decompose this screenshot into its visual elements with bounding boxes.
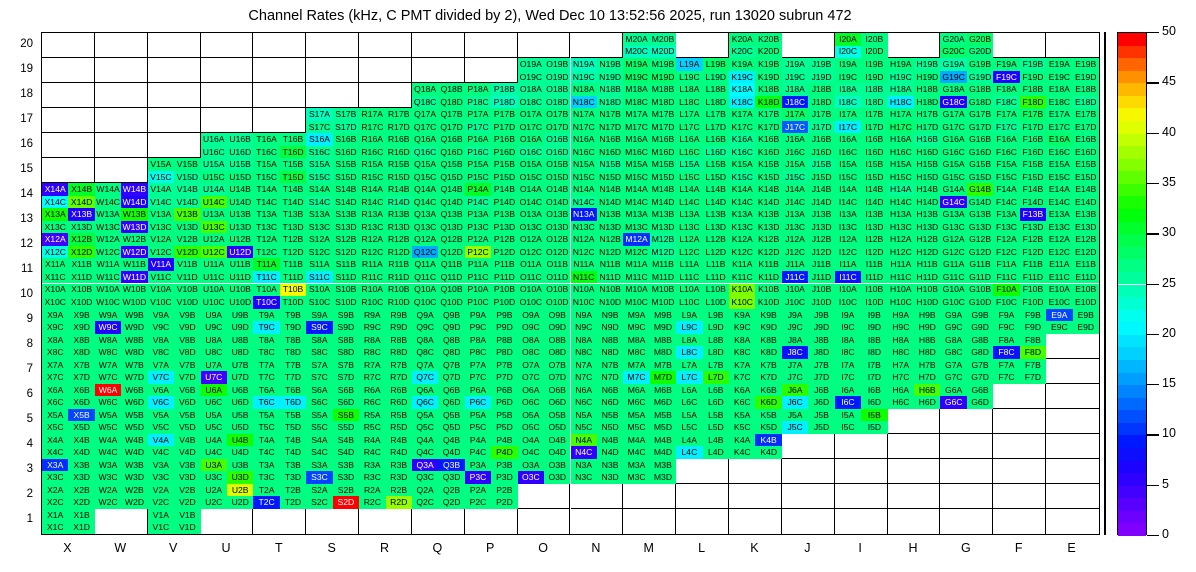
channel-subcell: P7D [491,371,517,384]
channel-subcell: X3B [68,459,94,472]
channel-subcell: M18B [650,83,676,96]
channel-subcell: R10B [386,284,412,297]
heatmap-cell [253,33,306,58]
heatmap-cell: H19AH19BH19CH19D [888,58,941,83]
channel-subcell: U5B [227,409,253,422]
channel-subcell: I9A [835,309,861,322]
channel-subcell: S11C [306,271,332,284]
channel-subcell: L13A [676,208,702,221]
channel-subcell: Q16B [438,133,464,146]
channel-subcell: M6C [623,396,649,409]
channel-subcell: K6D [755,396,781,409]
channel-subcell: I20D [861,46,887,59]
heatmap-cell: F11AF11BF11CF11D [993,258,1046,283]
channel-subcell: L10D [703,296,729,309]
channel-subcell: T12D [280,246,306,259]
channel-subcell: Q16A [412,133,438,146]
channel-subcell: J8D [808,346,834,359]
heatmap-cell: V1AV1BV1CV1D [148,509,201,534]
colorbar-band [1118,335,1146,348]
channel-subcell: M3C [623,471,649,484]
heatmap-cell: H16AH16BH16CH16D [888,133,941,158]
channel-subcell: H14A [888,183,914,196]
x-axis-label: P [464,541,517,555]
channel-subcell: U16C [201,146,227,159]
heatmap-cell [95,83,148,108]
colorbar-band [1118,486,1146,499]
heatmap-cell: N9AN9BN9CN9D [571,309,624,334]
channel-subcell: V3B [174,459,200,472]
heatmap-cell [676,33,729,58]
heatmap-cell: L13AL13BL13CL13D [676,208,729,233]
heatmap-cell: X14AX14BX14CX14D [42,183,95,208]
channel-subcell: M10D [650,296,676,309]
channel-subcell: V9D [174,321,200,334]
heatmap-cell: F12AF12BF12CF12D [993,233,1046,258]
heatmap-cell: Q13AQ13BQ13CQ13D [412,208,465,233]
channel-subcell: U5C [201,421,227,434]
channel-subcell: S13B [333,208,359,221]
channel-subcell: H18B [914,83,940,96]
channel-subcell: Q5C [412,421,438,434]
x-axis-label: M [622,541,675,555]
channel-subcell: G11D [967,271,993,284]
channel-subcell: I5D [861,421,887,434]
channel-subcell: J18B [808,83,834,96]
heatmap-cell: I6AI6BI6CI6D [835,384,888,409]
channel-subcell: H8A [888,334,914,347]
heatmap-grid: M20AM20BM20CM20DK20AK20BK20CK20DI20AI20B… [42,33,1099,534]
channel-subcell: L6C [676,396,702,409]
channel-subcell: P11D [491,271,517,284]
heatmap-cell: V8AV8BV8CV8D [148,334,201,359]
channel-subcell: I14D [861,196,887,209]
channel-subcell: N10A [571,284,597,297]
channel-subcell: F9D [1020,321,1046,334]
channel-subcell: H19C [888,71,914,84]
channel-subcell: P7B [491,359,517,372]
channel-subcell: O8C [518,346,544,359]
heatmap-cell: E11AE11BE11CE11D [1046,258,1099,283]
channel-subcell: E10A [1046,284,1072,297]
heatmap-cell: F7AF7BF7CF7D [993,359,1046,384]
channel-subcell: V13D [174,221,200,234]
channel-subcell: S17D [333,121,359,134]
channel-subcell: L13D [703,221,729,234]
heatmap-cell: G7AG7BG7CG7D [940,359,993,384]
heatmap-cell: U13AU13BU13CU13D [201,208,254,233]
colorbar-tick-label: 10 [1162,426,1176,440]
channel-subcell: O14B [544,183,570,196]
channel-subcell: X14C [42,196,68,209]
channel-subcell: W12C [95,246,121,259]
channel-subcell: N19A [571,58,597,71]
heatmap-cell: S16AS16BS16CS16D [306,133,359,158]
heatmap-cell: X7AX7BX7CX7D [42,359,95,384]
y-axis-label: 14 [3,188,33,200]
channel-subcell: J10A [782,284,808,297]
channel-subcell: J12C [782,246,808,259]
channel-subcell: K15D [755,171,781,184]
channel-subcell: O9C [518,321,544,334]
channel-subcell: U2D [227,496,253,509]
channel-subcell: J7C [782,371,808,384]
channel-subcell: G14B [967,183,993,196]
channel-subcell: R3C [359,471,385,484]
heatmap-cell: J14AJ14BJ14CJ14D [782,183,835,208]
channel-subcell: P2C [465,496,491,509]
heatmap-cell [253,509,306,534]
channel-subcell: L19A [676,58,702,71]
channel-subcell: M13A [623,208,649,221]
channel-subcell: N13A [571,208,597,221]
heatmap-cell: F17AF17BF17CF17D [993,108,1046,133]
channel-subcell: L15C [676,171,702,184]
heatmap-cell: V3AV3BV3CV3D [148,459,201,484]
channel-subcell: R11A [359,258,385,271]
channel-subcell: F11C [993,271,1019,284]
channel-subcell: O16D [544,146,570,159]
channel-subcell: K12D [755,246,781,259]
channel-subcell: M4B [650,434,676,447]
channel-subcell: F9C [993,321,1019,334]
heatmap-cell: R6AR6BR6CR6D [359,384,412,409]
channel-subcell: E9B [1073,309,1099,322]
channel-subcell: I18C [835,96,861,109]
channel-subcell: X11A [42,258,68,271]
channel-subcell: W10B [121,284,147,297]
channel-subcell: U15B [227,158,253,171]
heatmap-cell: E10AE10BE10CE10D [1046,284,1099,309]
channel-subcell: I19D [861,71,887,84]
channel-subcell: E15C [1046,171,1072,184]
channel-subcell: J14A [782,183,808,196]
heatmap-cell: U16AU16BU16CU16D [201,133,254,158]
heatmap-cell: K8AK8BK8CK8D [729,334,782,359]
channel-subcell: Q2C [412,496,438,509]
channel-subcell: N18C [571,96,597,109]
heatmap-cell: R8AR8BR8CR8D [359,334,412,359]
channel-subcell: N4D [597,446,623,459]
heatmap-cell: P12AP12BP12CP12D [465,233,518,258]
channel-subcell: P5D [491,421,517,434]
channel-subcell: J7D [808,371,834,384]
channel-subcell: R15C [359,171,385,184]
heatmap-cell: S11AS11BS11CS11D [306,258,359,283]
heatmap-cell [623,509,676,534]
channel-subcell: U6D [227,396,253,409]
channel-subcell: O4B [544,434,570,447]
channel-subcell: O12B [544,233,570,246]
channel-subcell: T3D [280,471,306,484]
channel-subcell: J16D [808,146,834,159]
colorbar-band [1118,71,1146,84]
heatmap-cell: K5AK5BK5CK5D [729,409,782,434]
channel-subcell: S10A [306,284,332,297]
channel-subcell: J7B [808,359,834,372]
channel-subcell: V7C [148,371,174,384]
channel-subcell: X13C [42,221,68,234]
heatmap-cell: L18AL18BL18CL18D [676,83,729,108]
heatmap-cell: N7AN7BN7CN7D [571,359,624,384]
channel-subcell: Q18A [412,83,438,96]
channel-subcell: N4A [571,434,597,447]
heatmap-cell: M20AM20BM20CM20D [623,33,676,58]
channel-subcell: G6D [967,396,993,409]
colorbar-tick [1147,82,1159,83]
channel-subcell: G20C [940,46,966,59]
x-axis-label: J [781,541,834,555]
channel-subcell: I19B [861,58,887,71]
channel-subcell: E19C [1046,71,1072,84]
heatmap-cell: V5AV5BV5CV5D [148,409,201,434]
channel-subcell: N10B [597,284,623,297]
channel-subcell: L7B [703,359,729,372]
channel-subcell: Q9B [438,309,464,322]
channel-subcell: M14A [623,183,649,196]
channel-subcell: R15D [386,171,412,184]
channel-subcell: S16B [333,133,359,146]
channel-subcell: J12A [782,233,808,246]
channel-subcell: S10D [333,296,359,309]
channel-subcell: M16D [650,146,676,159]
channel-subcell: U3C [201,471,227,484]
channel-subcell: N13B [597,208,623,221]
channel-subcell: R2C [359,496,385,509]
channel-subcell: P5A [465,409,491,422]
channel-subcell: G11B [967,258,993,271]
heatmap-cell: Q15AQ15BQ15CQ15D [412,158,465,183]
channel-subcell: M11B [650,258,676,271]
colorbar-band [1118,96,1146,109]
channel-subcell: O8A [518,334,544,347]
heatmap-cell [42,33,95,58]
heatmap-cell: Q7AQ7BQ7CQ7D [412,359,465,384]
channel-subcell: F14D [1020,196,1046,209]
heatmap-cell: J18AJ18BJ18CJ18D [782,83,835,108]
channel-subcell: G12B [967,233,993,246]
channel-subcell: P4D [491,446,517,459]
heatmap-cell: V12AV12BV12CV12D [148,233,201,258]
y-axis-label: 15 [3,163,33,175]
x-axis-label: L [675,541,728,555]
heatmap-cell: I19AI19BI19CI19D [835,58,888,83]
channel-subcell: F12A [993,233,1019,246]
colorbar-band [1118,83,1146,96]
colorbar-tick [1147,434,1159,435]
channel-subcell: H8B [914,334,940,347]
channel-subcell: J6C [782,396,808,409]
channel-subcell: Q15B [438,158,464,171]
heatmap-cell: F8AF8BF8CF8D [993,334,1046,359]
heatmap-cell [148,33,201,58]
colorbar-band [1118,121,1146,134]
channel-subcell: K11A [729,258,755,271]
channel-subcell: M9D [650,321,676,334]
channel-subcell: G6A [940,384,966,397]
heatmap-cell: G10AG10BG10CG10D [940,284,993,309]
heatmap-cell: O3AO3BO3CO3D [518,459,571,484]
channel-subcell: X1B [68,509,94,522]
channel-subcell: H8C [888,346,914,359]
heatmap-cell: R9AR9BR9CR9D [359,309,412,334]
channel-subcell: G9C [940,321,966,334]
channel-subcell: O7C [518,371,544,384]
heatmap-cell [571,509,624,534]
channel-subcell: O4D [544,446,570,459]
heatmap-cell: V15AV15BV15CV15D [148,158,201,183]
channel-subcell: U8C [201,346,227,359]
heatmap-cell: Q11AQ11BQ11CQ11D [412,258,465,283]
channel-subcell: G9B [967,309,993,322]
channel-subcell: W9B [121,309,147,322]
channel-subcell: L5D [703,421,729,434]
heatmap-cell: I17AI17BI17CI17D [835,108,888,133]
channel-subcell: I18A [835,83,861,96]
channel-subcell: J6B [808,384,834,397]
heatmap-cell: X1AX1BX1CX1D [42,509,95,534]
channel-subcell: J18A [782,83,808,96]
channel-subcell: R5C [359,421,385,434]
channel-subcell: X9D [68,321,94,334]
heatmap-cell: K10AK10BK10CK10D [729,284,782,309]
heatmap-cell: L10AL10BL10CL10D [676,284,729,309]
heatmap-cell: O4AO4BO4CO4D [518,434,571,459]
heatmap-cell [993,384,1046,409]
heatmap-cell: F16AF16BF16CF16D [993,133,1046,158]
heatmap-cell: U4AU4BU4CU4D [201,434,254,459]
channel-subcell: M12A [623,233,649,246]
channel-subcell: V8A [148,334,174,347]
channel-subcell: W4C [95,446,121,459]
channel-subcell: O16C [518,146,544,159]
heatmap-cell: R13AR13BR13CR13D [359,208,412,233]
channel-subcell: F8B [1020,334,1046,347]
channel-subcell: O6B [544,384,570,397]
channel-subcell: P8D [491,346,517,359]
channel-subcell: X3D [68,471,94,484]
channel-subcell: J15A [782,158,808,171]
heatmap-cell [95,509,148,534]
channel-subcell: E16A [1046,133,1072,146]
channel-subcell: U9C [201,321,227,334]
channel-subcell: T7B [280,359,306,372]
colorbar-band [1118,498,1146,511]
channel-subcell: K4D [755,446,781,459]
heatmap-cell [95,33,148,58]
heatmap-cell: Q8AQ8BQ8CQ8D [412,334,465,359]
heatmap-cell: R4AR4BR4CR4D [359,434,412,459]
heatmap-cell: Q16AQ16BQ16CQ16D [412,133,465,158]
channel-subcell: E14A [1046,183,1072,196]
channel-subcell: Q14D [438,196,464,209]
channel-subcell: M6B [650,384,676,397]
channel-subcell: N15C [571,171,597,184]
channel-subcell: U10D [227,296,253,309]
channel-subcell: Q4A [412,434,438,447]
channel-subcell: F16C [993,146,1019,159]
channel-subcell: V5B [174,409,200,422]
channel-subcell: U4A [201,434,227,447]
channel-subcell: N11C [571,271,597,284]
channel-subcell: G17B [967,108,993,121]
channel-subcell: V14D [174,196,200,209]
heatmap-cell [782,509,835,534]
heatmap-cell [1046,384,1099,409]
heatmap-cell: T12AT12BT12CT12D [253,233,306,258]
channel-subcell: S2A [306,484,332,497]
channel-subcell: E11C [1046,271,1072,284]
channel-subcell: K6A [729,384,755,397]
channel-subcell: Q8C [412,346,438,359]
channel-subcell: N9B [597,309,623,322]
channel-subcell: H15A [888,158,914,171]
channel-subcell: O10C [518,296,544,309]
channel-subcell: G15B [967,158,993,171]
heatmap-cell: U2AU2BU2CU2D [201,484,254,509]
channel-subcell: K15A [729,158,755,171]
colorbar-band [1118,385,1146,398]
channel-subcell: J18D [808,96,834,109]
channel-subcell: L18A [676,83,702,96]
channel-subcell: N3B [597,459,623,472]
channel-subcell: X10C [42,296,68,309]
channel-subcell: T12C [253,246,279,259]
channel-subcell: R17D [386,121,412,134]
heatmap-cell [412,509,465,534]
channel-subcell: Q2B [438,484,464,497]
channel-subcell: T16D [280,146,306,159]
channel-subcell: O7D [544,371,570,384]
channel-subcell: J5A [782,409,808,422]
colorbar-tick-label: 0 [1162,527,1169,541]
channel-subcell: K17B [755,108,781,121]
channel-subcell: W11C [95,271,121,284]
heatmap-cell: K14AK14BK14CK14D [729,183,782,208]
heatmap-cell: G20AG20BG20CG20D [940,33,993,58]
channel-subcell: W5C [95,421,121,434]
channel-subcell: J12D [808,246,834,259]
heatmap-cell: L9AL9BL9CL9D [676,309,729,334]
colorbar-band [1118,347,1146,360]
channel-subcell: X7C [42,371,68,384]
heatmap-cell: F18AF18BF18CF18D [993,83,1046,108]
heatmap-cell: I14AI14BI14CI14D [835,183,888,208]
colorbar-band [1118,146,1146,159]
channel-subcell: U12A [201,233,227,246]
channel-subcell: F11D [1020,271,1046,284]
channel-subcell: K5D [755,421,781,434]
channel-subcell: F14C [993,196,1019,209]
heatmap-cell [571,484,624,509]
channel-subcell: P3C [465,471,491,484]
channel-subcell: K7C [729,371,755,384]
heatmap-cell [359,509,412,534]
x-axis-label: R [358,541,411,555]
channel-subcell: P12B [491,233,517,246]
heatmap-cell: S17AS17BS17CS17D [306,108,359,133]
channel-subcell: P18C [465,96,491,109]
channel-subcell: T6D [280,396,306,409]
channel-subcell: I15D [861,171,887,184]
channel-subcell: V11C [148,271,174,284]
channel-subcell: G15C [940,171,966,184]
heatmap-cell: S7AS7BS7CS7D [306,359,359,384]
channel-subcell: S12A [306,233,332,246]
channel-subcell: N17D [597,121,623,134]
channel-subcell: N8C [571,346,597,359]
channel-subcell: T8D [280,346,306,359]
